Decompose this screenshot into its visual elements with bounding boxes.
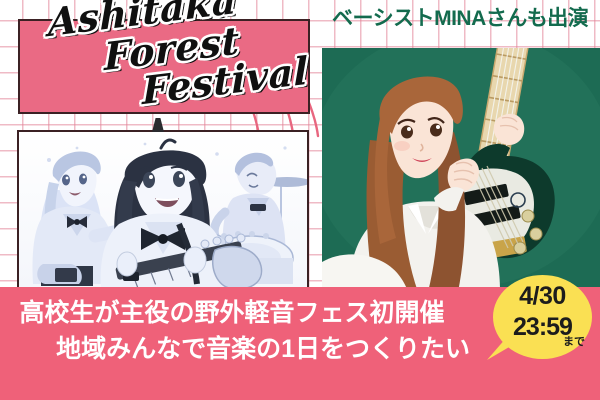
deadline-badge: 4/30 23:59 まで (493, 275, 592, 359)
banner-text-block: 高校生が主役の野外軽音フェス初開催 地域みんなで音楽の1日をつくりたい (0, 296, 478, 367)
deadline-suffix: まで (563, 337, 585, 348)
headline-text: ベーシストMINAさんも出演 (332, 8, 588, 29)
title-plate (18, 19, 310, 114)
banner-line-1: 高校生が主役の野外軽音フェス初開催 (0, 296, 478, 332)
bassist-photo (322, 48, 600, 292)
band-illustration (17, 130, 309, 290)
deadline-date: 4/30 (493, 284, 592, 309)
poster-canvas: Ashitaka Forest Festival (0, 0, 600, 400)
banner-line-2: 地域みんなで音楽の1日をつくりたい (0, 332, 478, 368)
